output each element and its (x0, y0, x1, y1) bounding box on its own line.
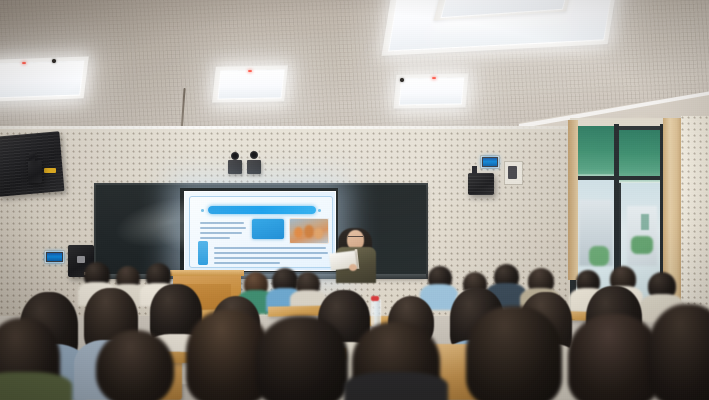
slide-side-tab (198, 241, 208, 265)
presenter-hand (349, 264, 357, 271)
slide-text-line-1 (200, 222, 244, 224)
slide-title-banner (208, 206, 316, 214)
student-head-front-6 (568, 314, 660, 400)
lcd-status-display[interactable] (46, 252, 63, 262)
right-lcd-display[interactable] (482, 157, 498, 167)
student-head-front-5 (466, 306, 562, 400)
water-bottle-cap (371, 296, 379, 301)
presenter-glasses (348, 236, 363, 240)
ceiling-camera-left-lens (231, 152, 239, 160)
ceiling-light-3-indicator (22, 62, 26, 64)
slide-text-line-3 (200, 232, 242, 234)
ceiling-light-3 (0, 60, 84, 98)
slide-photo-figure-2 (304, 225, 314, 238)
student-head-front-7 (648, 304, 709, 400)
student-head-front-3 (256, 316, 348, 400)
outside-tree-1 (631, 236, 653, 254)
smoke-detector-right-icon (400, 78, 404, 82)
slide-photo-figure-1 (294, 227, 303, 238)
slide-text-line-4 (200, 237, 230, 239)
ceiling-light-4 (217, 69, 284, 99)
slide-title-text: 课题引入 · 教学目标与内容 (190, 197, 191, 198)
slide-callout-text: 核心要点 (190, 197, 191, 198)
slide-body-line-1 (214, 247, 326, 249)
amplifier-panel-knob[interactable] (77, 256, 85, 263)
student-body-front-4 (344, 372, 448, 400)
ceiling-light-5 (399, 77, 464, 105)
ceiling-light-4-indicator (248, 70, 252, 72)
outside-tree-2 (589, 246, 609, 266)
slide-title-dot-right (318, 209, 321, 212)
student-body-front-1 (0, 372, 72, 400)
slide-body-line-3 (214, 257, 322, 259)
wall-device-small-left (28, 161, 42, 183)
wall-device-mount-left (29, 152, 35, 161)
window-blind-right (574, 126, 616, 180)
right-wall-pillar (681, 116, 709, 321)
slide-body-line-2 (214, 252, 328, 254)
wall-speaker-right-bracket (472, 166, 477, 174)
projected-slide: 课题引入 · 教学目标与内容 核心要点 要点 (184, 191, 336, 271)
lectern-top (170, 270, 244, 276)
smoke-detector-left-icon (52, 59, 56, 63)
outside-green-panel (641, 214, 649, 230)
wall-speaker-right-grille (468, 173, 494, 195)
classroom-photo: 课题引入 · 教学目标与内容 核心要点 要点 w (0, 0, 709, 400)
wall-speaker-left-label (44, 168, 56, 173)
slide-text-line-2 (200, 227, 246, 229)
slide-content-frame: 课题引入 · 教学目标与内容 核心要点 要点 (189, 196, 333, 268)
window-blind-left (619, 130, 663, 182)
ceiling-camera-right (247, 160, 261, 174)
slide-photo (289, 218, 329, 244)
slide-title-dot-left (201, 209, 204, 212)
window-transom (570, 176, 665, 180)
slide-body-line-4 (214, 262, 280, 264)
ceiling-camera-left (228, 160, 242, 174)
window-wood-column-inner (568, 120, 578, 280)
ceiling-light-5-indicator (432, 77, 436, 79)
slide-side-tab-text: 要点 (190, 197, 191, 198)
student-head-front-8 (96, 330, 174, 400)
slide-callout-box (252, 219, 284, 239)
ceiling-camera-right-lens (250, 151, 258, 159)
slide-photo-figure-3 (314, 228, 323, 239)
wall-plate-right-inset (508, 166, 517, 179)
